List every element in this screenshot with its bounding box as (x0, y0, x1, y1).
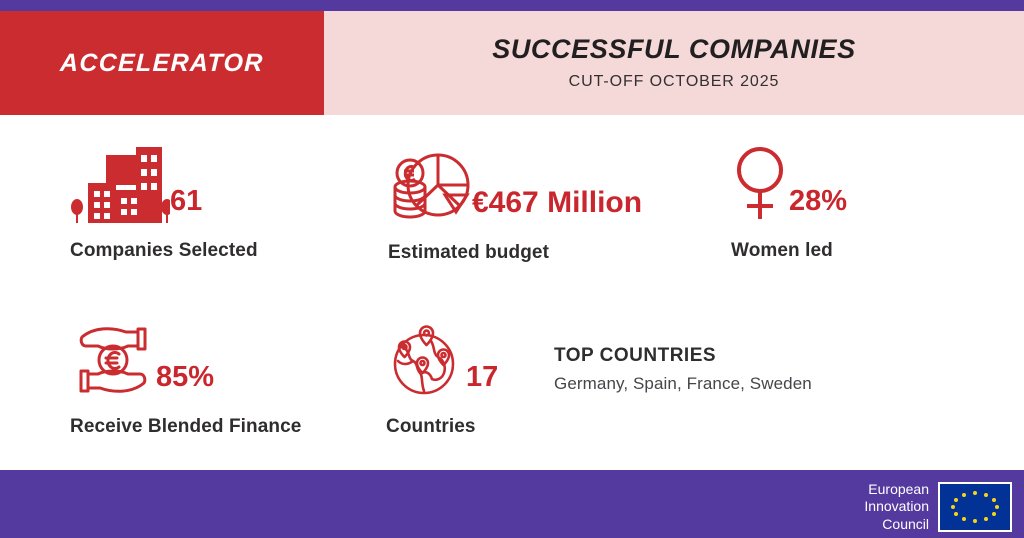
eu-star (973, 519, 977, 523)
footer-band: European Innovation Council (0, 470, 1024, 538)
stat-label-countries: Countries (386, 416, 498, 438)
eu-star (962, 517, 966, 521)
eu-star (962, 493, 966, 497)
header-band: ACCELERATOR SUCCESSFUL COMPANIES CUT-OFF… (0, 11, 1024, 115)
eu-star (951, 505, 955, 509)
eu-flag-icon (938, 482, 1012, 532)
infographic-poster: ACCELERATOR SUCCESSFUL COMPANIES CUT-OFF… (0, 0, 1024, 538)
eu-star (995, 505, 999, 509)
page-title: SUCCESSFUL COMPANIES (492, 35, 856, 65)
stat-countries: 17 Countries (386, 317, 498, 438)
eu-star (954, 512, 958, 516)
top-purple-rule (0, 0, 1024, 11)
top-countries-list: Germany, Spain, France, Sweden (554, 374, 812, 394)
eic-logo-line-3: Council (864, 516, 929, 533)
stat-value-finance: 85% (156, 363, 214, 399)
eu-flag-field (940, 484, 1010, 530)
top-countries-title: TOP COUNTRIES (554, 345, 812, 367)
eu-star (984, 517, 988, 521)
pie-chart-coins-icon (388, 149, 472, 225)
top-countries-block: TOP COUNTRIES Germany, Spain, France, Sw… (554, 345, 812, 394)
eic-logo-wordmark: European Innovation Council (864, 481, 938, 532)
buildings-icon (70, 145, 170, 223)
globe-pins-icon (386, 321, 466, 399)
stat-value-budget: €467 Million (472, 188, 642, 225)
eic-logo-line-2: Innovation (864, 498, 929, 515)
stat-label-budget: Estimated budget (388, 242, 642, 264)
eu-star (984, 493, 988, 497)
stat-value-companies: 61 (170, 187, 202, 223)
stat-value-women: 28% (789, 187, 847, 223)
stats-area: 61 Companies Selected (0, 115, 1024, 470)
programme-badge-label: ACCELERATOR (60, 49, 265, 78)
eic-logo: European Innovation Council (864, 482, 1012, 532)
page-subtitle: CUT-OFF OCTOBER 2025 (569, 73, 780, 91)
venus-symbol-icon (731, 145, 789, 223)
eu-star (973, 491, 977, 495)
stat-estimated-budget: €467 Million Estimated budget (388, 143, 642, 264)
stat-label-finance: Receive Blended Finance (70, 416, 301, 438)
stat-label-women: Women led (731, 240, 847, 262)
hands-euro-coin-icon (70, 321, 156, 399)
stat-blended-finance: 85% Receive Blended Finance (70, 317, 301, 438)
eu-star (992, 512, 996, 516)
stat-companies-selected: 61 Companies Selected (70, 141, 258, 262)
stat-women-led: 28% Women led (731, 141, 847, 262)
stat-top-row: €467 Million (388, 143, 642, 225)
header-title-area: SUCCESSFUL COMPANIES CUT-OFF OCTOBER 202… (324, 11, 1024, 115)
eic-logo-line-1: European (864, 481, 929, 498)
stat-top-row: 61 (70, 141, 258, 223)
programme-badge: ACCELERATOR (0, 11, 324, 115)
stat-label-companies: Companies Selected (70, 240, 258, 262)
stat-top-row: 85% (70, 317, 301, 399)
stat-value-countries: 17 (466, 363, 498, 399)
eu-star (954, 498, 958, 502)
stat-top-row: 28% (731, 141, 847, 223)
eu-star (992, 498, 996, 502)
stat-top-row: 17 (386, 317, 498, 399)
